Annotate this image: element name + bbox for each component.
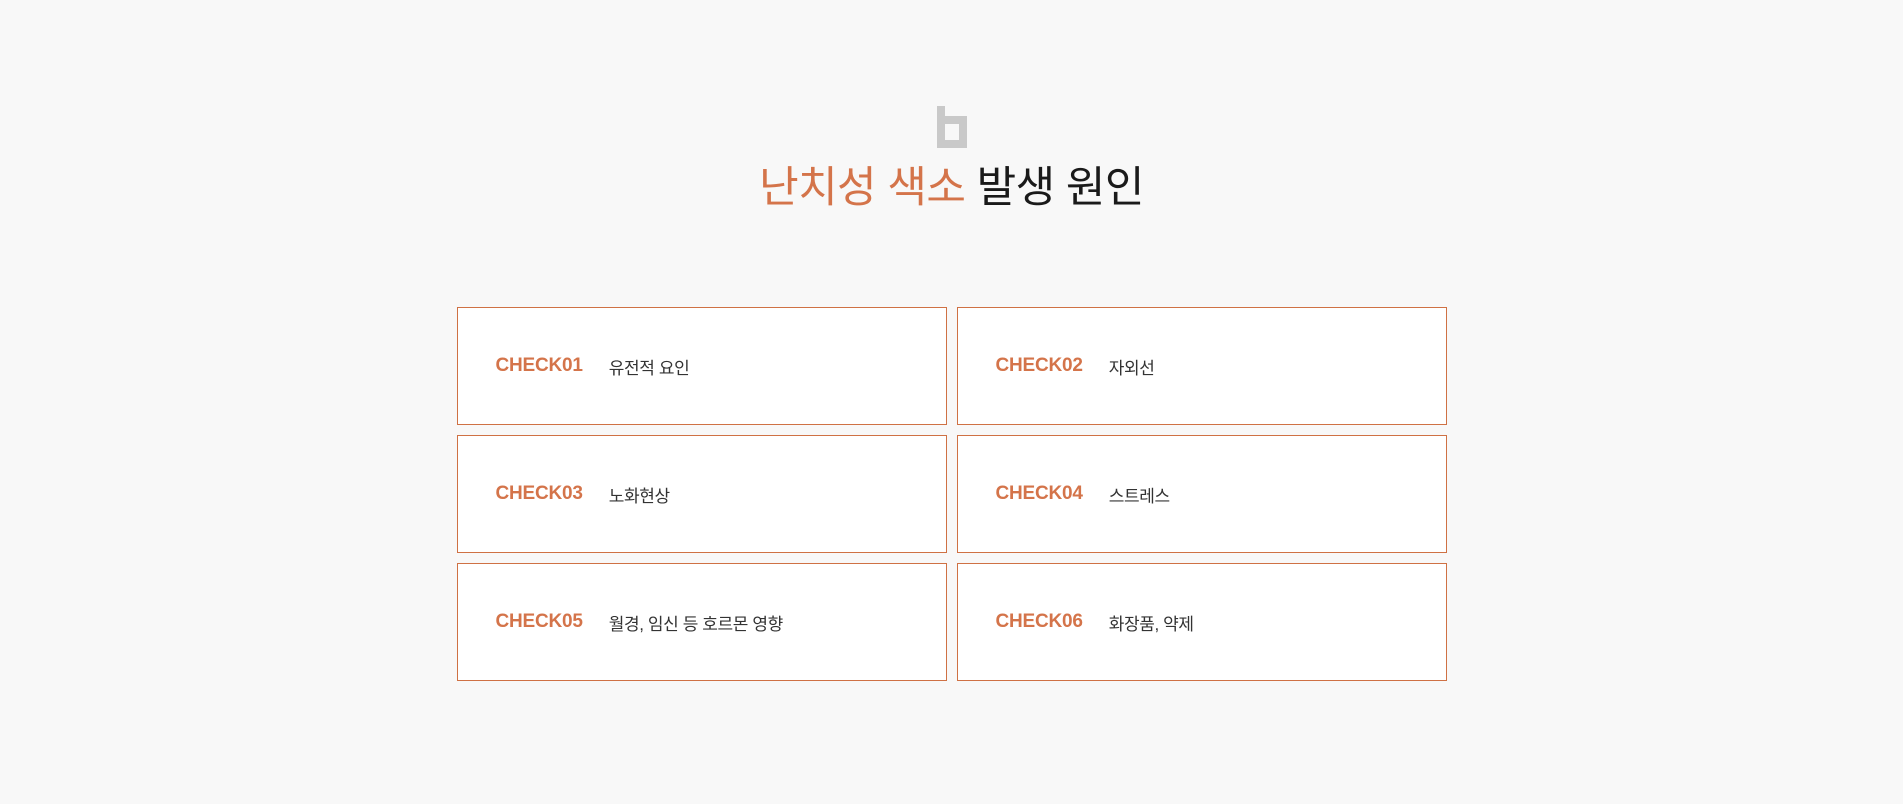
check-card-03[interactable]: CHECK03 노화현상 [457, 435, 947, 553]
checklist-grid: CHECK01 유전적 요인 CHECK02 자외선 CHECK03 노화현상 … [457, 307, 1447, 681]
check-card-04[interactable]: CHECK04 스트레스 [957, 435, 1447, 553]
h-monogram-logo-icon [935, 106, 969, 148]
page-title: 난치성 색소 발생 원인 [759, 162, 1144, 214]
check-card-label: 화장품, 약제 [1109, 610, 1194, 635]
check-card-label: 월경, 임신 등 호르몬 영향 [609, 610, 783, 635]
check-card-code: CHECK03 [496, 483, 583, 505]
check-card-label: 유전적 요인 [609, 354, 690, 379]
check-card-06[interactable]: CHECK06 화장품, 약제 [957, 563, 1447, 681]
check-card-code: CHECK04 [996, 483, 1083, 505]
check-card-code: CHECK06 [996, 611, 1083, 633]
check-card-01[interactable]: CHECK01 유전적 요인 [457, 307, 947, 425]
page-title-accent: 난치성 색소 [759, 164, 965, 212]
check-card-label: 자외선 [1109, 354, 1155, 379]
check-card-02[interactable]: CHECK02 자외선 [957, 307, 1447, 425]
content-section: 난치성 색소 발생 원인 CHECK01 유전적 요인 CHECK02 자외선 … [352, 0, 1552, 681]
check-card-label: 스트레스 [1109, 482, 1170, 507]
check-card-label: 노화현상 [609, 482, 670, 507]
check-card-code: CHECK05 [496, 611, 583, 633]
page-title-plain: 발생 원인 [977, 164, 1144, 212]
check-card-05[interactable]: CHECK05 월경, 임신 등 호르몬 영향 [457, 563, 947, 681]
check-card-code: CHECK02 [996, 355, 1083, 377]
check-card-code: CHECK01 [496, 355, 583, 377]
page-root: 난치성 색소 발생 원인 CHECK01 유전적 요인 CHECK02 자외선 … [0, 0, 1903, 804]
